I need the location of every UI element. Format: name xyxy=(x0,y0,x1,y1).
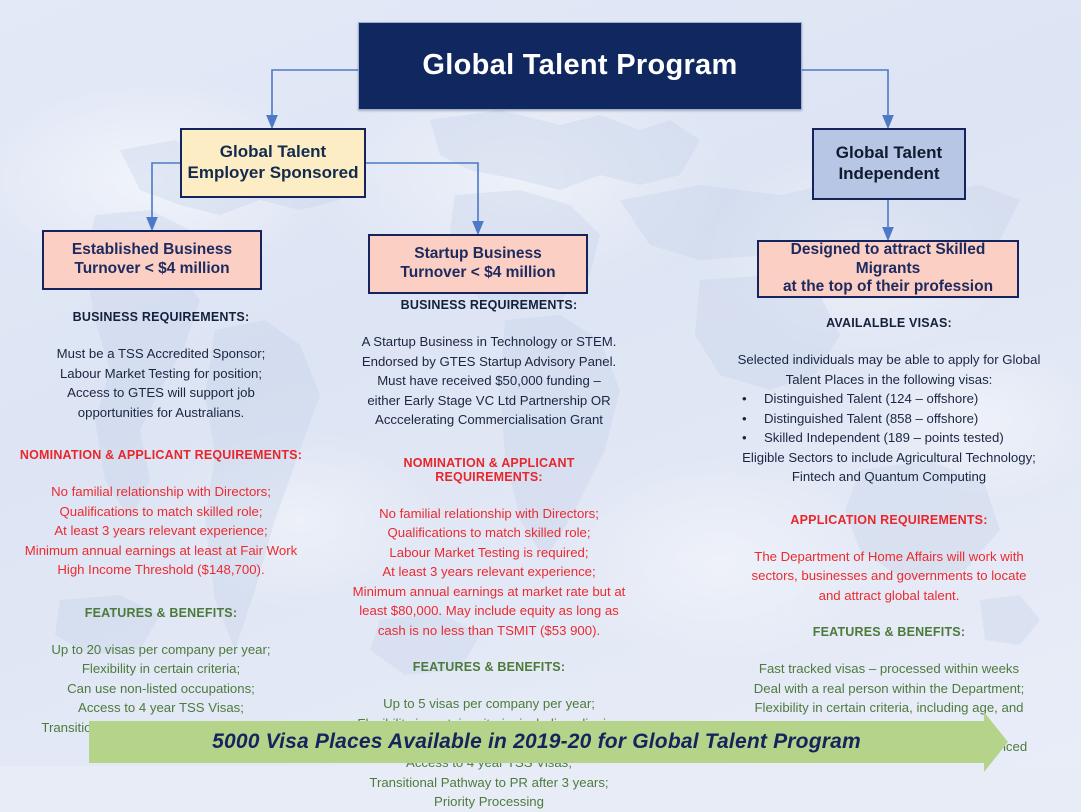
established-nomination-body: No familial relationship with Directors;… xyxy=(6,482,316,580)
established-nomination-header: NOMINATION & APPLICANT REQUIREMENTS: xyxy=(6,448,316,462)
startup-business-requirements-body: A Startup Business in Technology or STEM… xyxy=(348,332,630,430)
independent-visas-intro: Selected individuals may be able to appl… xyxy=(718,350,1060,389)
bottom-banner: 5000 Visa Places Available in 2019-20 fo… xyxy=(89,721,984,763)
column-established-business: BUSINESS REQUIREMENTS: Must be a TSS Acc… xyxy=(6,310,316,757)
banner-text: 5000 Visa Places Available in 2019-20 fo… xyxy=(212,730,861,754)
list-item: •Skilled Independent (189 – points teste… xyxy=(718,428,1060,448)
visa-item-label: Skilled Independent (189 – points tested… xyxy=(764,430,1004,445)
startup-nomination-header: NOMINATION & APPLICANT REQUIREMENTS: xyxy=(348,456,630,484)
established-line1: Established Business xyxy=(72,241,232,260)
independent-line2: Independent xyxy=(836,164,942,185)
independent-application-body: The Department of Home Affairs will work… xyxy=(718,547,1060,606)
employer-sponsored-line2: Employer Sponsored xyxy=(188,163,359,184)
employer-sponsored-line1: Global Talent xyxy=(188,142,359,163)
independent-visas-outro: Eligible Sectors to include Agricultural… xyxy=(718,448,1060,487)
node-global-talent-employer-sponsored: Global Talent Employer Sponsored xyxy=(180,128,366,198)
startup-line2: Turnover < $4 million xyxy=(400,264,555,283)
bullet-icon: • xyxy=(742,389,747,409)
startup-nomination-body: No familial relationship with Directors;… xyxy=(348,504,630,641)
bullet-icon: • xyxy=(742,428,747,448)
title-box: Global Talent Program xyxy=(358,22,802,110)
startup-line1: Startup Business xyxy=(400,245,555,264)
list-item: •Distinguished Talent (858 – offshore) xyxy=(718,409,1060,429)
established-business-requirements-body: Must be a TSS Accredited Sponsor; Labour… xyxy=(6,344,316,422)
node-designed-to-attract: Designed to attract Skilled Migrants at … xyxy=(757,240,1019,298)
independent-features-header: FEATURES & BENEFITS: xyxy=(718,625,1060,639)
banner-arrow-icon xyxy=(984,712,1008,772)
independent-visa-list: •Distinguished Talent (124 – offshore) •… xyxy=(718,389,1060,448)
visa-item-label: Distinguished Talent (124 – offshore) xyxy=(764,391,978,406)
bullet-icon: • xyxy=(742,409,747,429)
designed-line2: at the top of their profession xyxy=(759,278,1017,297)
designed-line1: Designed to attract Skilled Migrants xyxy=(759,241,1017,279)
visa-item-label: Distinguished Talent (858 – offshore) xyxy=(764,411,978,426)
established-line2: Turnover < $4 million xyxy=(72,260,232,279)
node-startup-business: Startup Business Turnover < $4 million xyxy=(368,234,588,294)
node-global-talent-independent: Global Talent Independent xyxy=(812,128,966,200)
node-established-business: Established Business Turnover < $4 milli… xyxy=(42,230,262,290)
title-text: Global Talent Program xyxy=(422,48,737,83)
independent-application-header: APPLICATION REQUIREMENTS: xyxy=(718,513,1060,527)
established-business-requirements-header: BUSINESS REQUIREMENTS: xyxy=(6,310,316,324)
independent-line1: Global Talent xyxy=(836,143,942,164)
column-global-talent-independent: AVAILALBLE VISAS: Selected individuals m… xyxy=(718,316,1060,757)
startup-business-requirements-header: BUSINESS REQUIREMENTS: xyxy=(348,298,630,312)
startup-features-header: FEATURES & BENEFITS: xyxy=(348,660,630,674)
diagram-canvas: Global Talent Program Global Talent Empl… xyxy=(0,0,1081,766)
independent-visas-header: AVAILALBLE VISAS: xyxy=(718,316,1060,330)
list-item: •Distinguished Talent (124 – offshore) xyxy=(718,389,1060,409)
established-features-header: FEATURES & BENEFITS: xyxy=(6,606,316,620)
